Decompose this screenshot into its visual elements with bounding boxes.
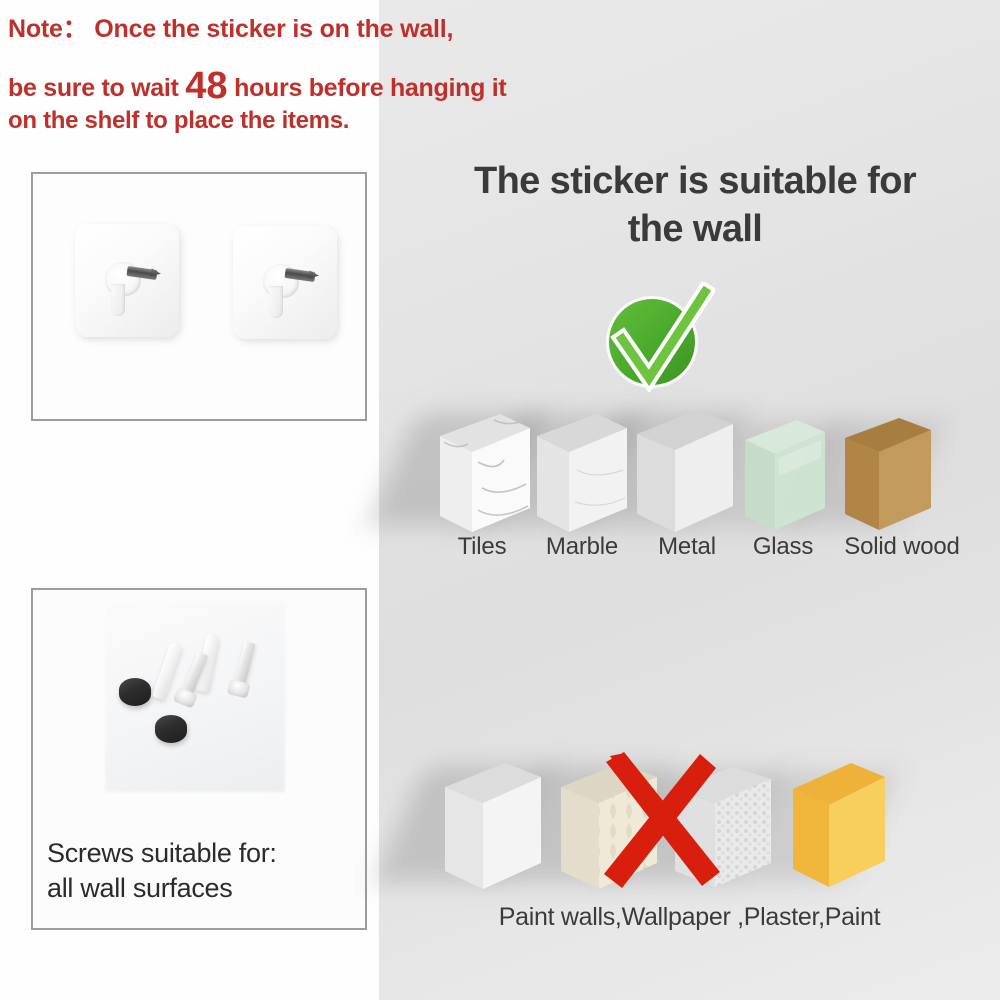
- note-hours-number: 48: [185, 65, 227, 107]
- headline-line-2: the wall: [395, 205, 995, 253]
- adhesive-sticker-left: [75, 224, 179, 337]
- rubber-cap-icon: [119, 678, 151, 706]
- note-line-2-after: hours before hanging it: [227, 74, 506, 102]
- hook-arm-icon: [269, 286, 283, 318]
- product-infographic: Note： Once the sticker is on the wall, b…: [0, 0, 1000, 1000]
- warning-note: Note： Once the sticker is on the wall, b…: [8, 14, 648, 136]
- material-block-paint-walls: [441, 759, 541, 895]
- material-block-paint: [787, 761, 887, 895]
- screws-caption-line-1: Screws suitable for:: [47, 836, 357, 871]
- hook-stickers-photo: [33, 174, 365, 419]
- unsuitable-material-labels: Paint walls,Wallpaper ,Plaster,Paint: [379, 903, 1000, 932]
- material-block-metal: [633, 408, 733, 540]
- material-block-marble: [531, 410, 627, 540]
- note-line-3: on the shelf to place the items.: [8, 106, 648, 136]
- screws-photo-frame: Screws suitable for: all wall surfaces: [31, 588, 367, 930]
- screws-caption: Screws suitable for: all wall surfaces: [47, 836, 357, 906]
- note-line-1: Note： Once the sticker is on the wall,: [8, 14, 648, 44]
- page-title: The sticker is suitable for the wall: [395, 157, 995, 253]
- note-line-2-before: be sure to wait: [8, 74, 185, 102]
- hook-arm-icon: [111, 284, 125, 316]
- rubber-cap-icon: [155, 715, 187, 743]
- material-block-tiles: [434, 410, 530, 540]
- unsuitable-caption: Paint walls,Wallpaper ,Plaster,Paint: [379, 903, 1000, 932]
- note-line-2: be sure to wait 48 hours before hanging …: [8, 73, 648, 103]
- hook-stickers-photo-frame: [31, 172, 367, 421]
- material-label-solid-wood: Solid wood: [822, 533, 982, 561]
- material-label-glass: Glass: [733, 533, 833, 561]
- headline-line-1: The sticker is suitable for: [395, 157, 995, 205]
- material-label-marble: Marble: [527, 533, 637, 561]
- material-label-metal: Metal: [635, 533, 739, 561]
- screws-caption-line-2: all wall surfaces: [47, 871, 357, 906]
- red-x-icon: [602, 752, 722, 888]
- material-label-tiles: Tiles: [432, 533, 532, 561]
- adhesive-sticker-right: [233, 226, 337, 339]
- material-block-solid-wood: [841, 412, 933, 540]
- material-block-glass: [741, 414, 827, 540]
- suitable-materials-row: [379, 380, 1000, 540]
- green-check-icon: [597, 282, 715, 392]
